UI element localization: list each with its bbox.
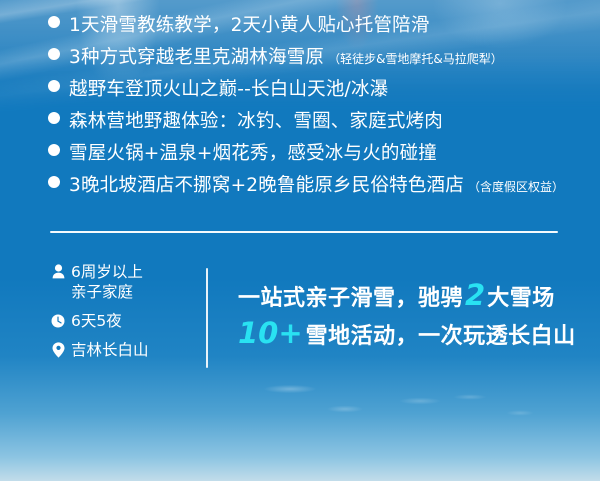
feature-item-text: 3晚北坡酒店不挪窝+2晚鲁能原乡民俗特色酒店 — [69, 177, 464, 196]
feature-item: 雪屋火锅+温泉+烟花秀，感受冰与火的碰撞 — [48, 145, 588, 177]
person-icon — [50, 262, 66, 281]
meta-row-location: 吉林长白山 — [50, 340, 200, 360]
headline-line1-post: 大雪场 — [487, 286, 555, 311]
meta-duration-text: 6天5夜 — [71, 311, 122, 331]
meta-audience-line1: 6周岁以上 — [71, 263, 143, 281]
horizontal-divider — [50, 231, 558, 233]
feature-item: 3种方式穿越老里克湖林海雪原 （轻徒步&雪地摩托&马拉爬犁） — [48, 49, 588, 81]
bullet-dot-icon — [48, 48, 60, 60]
feature-item-text: 雪屋火锅+温泉+烟花秀，感受冰与火的碰撞 — [69, 145, 437, 164]
headline-accent-2: 2 — [463, 278, 487, 312]
feature-item: 森林营地野趣体验：冰钓、雪圈、家庭式烤肉 — [48, 113, 588, 145]
feature-item-text: 森林营地野趣体验：冰钓、雪圈、家庭式烤肉 — [69, 113, 443, 132]
bullet-dot-icon — [48, 16, 60, 28]
feature-item: 3晚北坡酒店不挪窝+2晚鲁能原乡民俗特色酒店 （含度假区权益） — [48, 177, 588, 209]
feature-item-text: 3种方式穿越老里克湖林海雪原 — [69, 49, 324, 68]
bullet-dot-icon — [48, 144, 60, 156]
feature-item: 越野车登顶火山之巅--长白山天池/冰瀑 — [48, 81, 588, 113]
bullet-dot-icon — [48, 176, 60, 188]
feature-item: 1天滑雪教练教学，2天小黄人贴心托管陪滑 — [48, 17, 588, 49]
location-pin-icon — [50, 340, 66, 359]
feature-item-note: （轻徒步&雪地摩托&马拉爬犁） — [328, 50, 503, 67]
meta-audience-line2: 亲子家庭 — [71, 282, 143, 302]
feature-item-text: 1天滑雪教练教学，2天小黄人贴心托管陪滑 — [69, 17, 430, 36]
meta-row-duration: 6天5夜 — [50, 311, 200, 331]
trip-meta-block: 6周岁以上 亲子家庭 6天5夜 吉林长白山 — [50, 262, 200, 369]
vertical-divider — [206, 268, 208, 368]
headline-line1-pre: 一站式亲子滑雪，驰骋 — [238, 286, 463, 311]
bullet-dot-icon — [48, 112, 60, 124]
promo-poster: 1天滑雪教练教学，2天小黄人贴心托管陪滑 3种方式穿越老里克湖林海雪原 （轻徒步… — [0, 0, 600, 481]
meta-audience-text: 6周岁以上 亲子家庭 — [71, 262, 143, 302]
meta-row-audience: 6周岁以上 亲子家庭 — [50, 262, 200, 302]
meta-location-text: 吉林长白山 — [71, 340, 149, 360]
headline-line-2: 10+雪地活动，一次玩透长白山 — [238, 316, 590, 354]
headline-line-1: 一站式亲子滑雪，驰骋2大雪场 — [238, 278, 590, 316]
feature-list: 1天滑雪教练教学，2天小黄人贴心托管陪滑 3种方式穿越老里克湖林海雪原 （轻徒步… — [48, 17, 588, 209]
headline-line2-post: 雪地活动，一次玩透长白山 — [306, 324, 576, 349]
clock-icon — [50, 311, 66, 330]
feature-item-note: （含度假区权益） — [468, 178, 564, 195]
feature-item-text: 越野车登顶火山之巅--长白山天池/冰瀑 — [69, 81, 388, 100]
bullet-dot-icon — [48, 80, 60, 92]
headline-accent-10plus: 10+ — [238, 316, 306, 350]
headline-block: 一站式亲子滑雪，驰骋2大雪场 10+雪地活动，一次玩透长白山 — [238, 278, 590, 354]
